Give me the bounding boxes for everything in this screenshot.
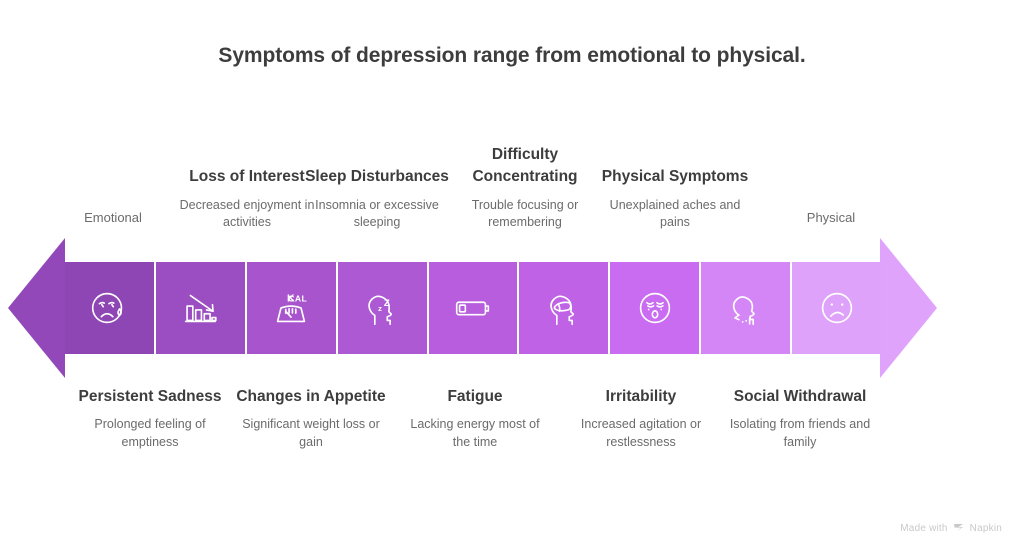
symptom-title: Changes in Appetite <box>236 386 386 408</box>
svg-text:Z: Z <box>384 298 390 309</box>
symptom-tile-8[interactable] <box>792 262 881 354</box>
symptom-title: Difficulty Concentrating <box>450 144 600 189</box>
symptom-title: Social Withdrawal <box>725 386 875 408</box>
napkin-logo-icon <box>953 522 965 534</box>
symptom-tile-0[interactable] <box>65 262 154 354</box>
sad-face-icon <box>814 285 860 331</box>
spectrum-label-physical: Physical <box>771 210 891 225</box>
crying-face-icon <box>86 285 132 331</box>
symptom-description: Increased agitation or restlessness <box>566 416 716 452</box>
arrow-head-left-icon <box>8 238 65 378</box>
symptom-callout-5: Difficulty ConcentratingTrouble focusing… <box>450 114 600 232</box>
napkin-watermark: Made with Napkin <box>900 522 1002 534</box>
symptom-callout-0: Persistent SadnessProlonged feeling of e… <box>75 386 225 452</box>
symptom-description: Trouble focusing or remembering <box>450 197 600 233</box>
symptom-tile-5[interactable] <box>519 262 608 354</box>
svg-text:z: z <box>378 304 382 313</box>
symptom-description: Prolonged feeling of emptiness <box>75 416 225 452</box>
symptom-tile-band: KCALZz <box>65 262 881 354</box>
symptom-callout-6: IrritabilityIncreased agitation or restl… <box>566 386 716 452</box>
watermark-made-with-label: Made with <box>900 523 947 534</box>
symptom-tile-6[interactable] <box>610 262 699 354</box>
symptom-title: Physical Symptoms <box>600 166 750 188</box>
symptom-title: Loss of Interest <box>172 166 322 188</box>
symptom-title: Sleep Disturbances <box>302 166 452 188</box>
symptom-description: Decreased enjoyment in activities <box>172 197 322 233</box>
angry-face-icon <box>632 285 678 331</box>
spectrum-diagram: Emotional Physical KCALZz Persistent Sad… <box>0 0 1024 546</box>
kcal-scale-icon: KCAL <box>268 285 314 331</box>
low-battery-icon <box>450 285 496 331</box>
symptom-description: Significant weight loss or gain <box>236 416 386 452</box>
symptom-title: Persistent Sadness <box>75 386 225 408</box>
symptom-tile-7[interactable] <box>701 262 790 354</box>
symptom-callout-1: Loss of InterestDecreased enjoyment in a… <box>172 114 322 232</box>
aching-head-icon <box>723 285 769 331</box>
symptom-callout-4: FatigueLacking energy most of the time <box>400 386 550 452</box>
symptom-tile-3[interactable]: Zz <box>338 262 427 354</box>
declining-bar-chart-icon <box>177 285 223 331</box>
symptom-description: Insomnia or excessive sleeping <box>302 197 452 233</box>
spectrum-label-emotional: Emotional <box>53 210 173 225</box>
symptom-tile-4[interactable] <box>429 262 518 354</box>
arrow-head-right-icon <box>880 238 937 378</box>
symptom-tile-1[interactable] <box>156 262 245 354</box>
brain-head-icon <box>541 285 587 331</box>
symptom-description: Lacking energy most of the time <box>400 416 550 452</box>
symptom-callout-3: Sleep DisturbancesInsomnia or excessive … <box>302 114 452 232</box>
symptom-description: Unexplained aches and pains <box>600 197 750 233</box>
symptom-title: Fatigue <box>400 386 550 408</box>
symptom-callout-7: Physical SymptomsUnexplained aches and p… <box>600 114 750 232</box>
symptom-callout-2: Changes in AppetiteSignificant weight lo… <box>236 386 386 452</box>
symptom-title: Irritability <box>566 386 716 408</box>
symptom-tile-2[interactable]: KCAL <box>247 262 336 354</box>
symptom-description: Isolating from friends and family <box>725 416 875 452</box>
symptom-callout-8: Social WithdrawalIsolating from friends … <box>725 386 875 452</box>
watermark-brand-label: Napkin <box>970 523 1002 534</box>
sleeping-head-icon: Zz <box>359 285 405 331</box>
svg-text:CAL: CAL <box>288 293 307 303</box>
